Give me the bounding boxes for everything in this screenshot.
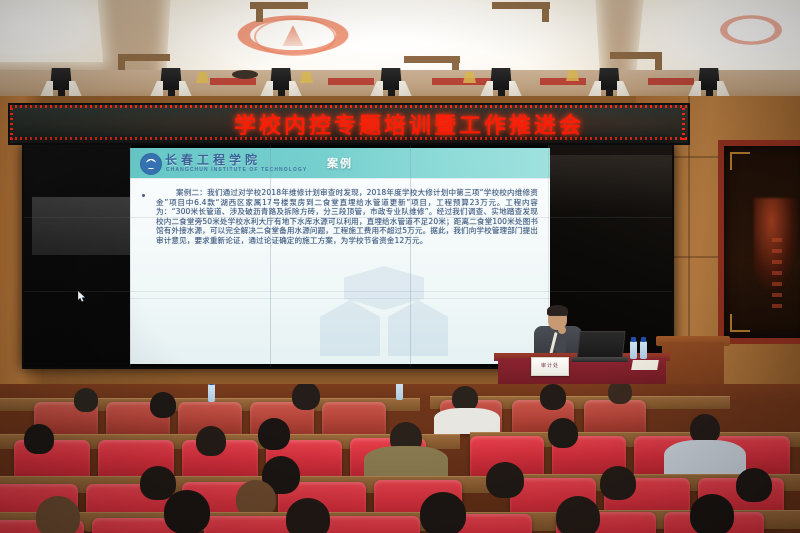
decorative-panel-icon — [718, 140, 800, 344]
decor-corner-ornament-icon — [730, 152, 750, 170]
seat — [322, 402, 386, 436]
attendee-head — [600, 466, 636, 500]
attendee-head — [736, 468, 772, 502]
attendee-shoulders — [664, 440, 746, 478]
soffit-accent — [648, 78, 694, 85]
cube-watermark-icon — [310, 266, 460, 360]
attendee-head — [150, 392, 176, 418]
attendee-shoulders — [434, 408, 500, 434]
presentation-slide: 长春工程学院 CHANGCHUN INSTITUTE OF TECHNOLOGY… — [130, 148, 550, 364]
ceiling-trim — [655, 52, 662, 71]
attendee-head — [24, 424, 54, 454]
attendee-head — [292, 384, 320, 410]
soffit-accent — [210, 78, 256, 85]
attendee-head — [548, 418, 578, 448]
attendee-head — [258, 418, 290, 450]
video-wall-panel-dark-left — [24, 145, 130, 367]
soffit-accent — [540, 78, 586, 85]
audience-area — [0, 384, 800, 533]
led-banner: 学校内控专题培训暨工作推进会 — [8, 103, 690, 145]
mouse-pointer-icon — [78, 291, 86, 302]
attendee-head — [164, 490, 210, 533]
ceiling-trim — [542, 2, 549, 22]
water-bottle-icon — [208, 384, 215, 402]
video-wall-panel-grey — [32, 197, 130, 255]
paper-sheet — [631, 360, 659, 370]
ceiling-dome-speaker-icon — [232, 70, 258, 79]
conference-hall-photo: 学校内控专题培训暨工作推进会 长春工程学院 CHANGCHUN INSTITUT… — [0, 0, 800, 533]
attendee-head — [556, 496, 600, 533]
soffit-accent — [432, 78, 492, 85]
ceiling-trim — [118, 54, 170, 61]
slide-title: 案例 — [130, 155, 550, 171]
ceiling-emblem-mark-icon — [282, 25, 303, 46]
attendee-head — [420, 492, 466, 533]
bullet-icon — [142, 194, 145, 197]
water-bottle-icon — [396, 384, 403, 400]
soffit-accent — [328, 78, 374, 85]
led-banner-text: 学校内控专题培训暨工作推进会 — [10, 108, 688, 140]
nameplate-text: 审计处 — [532, 362, 568, 369]
attendee-head — [36, 496, 80, 533]
attendee-head — [196, 426, 226, 456]
seat — [316, 516, 420, 533]
ceiling-trim — [256, 2, 263, 22]
attendee-head — [486, 462, 524, 498]
decor-corner-ornament-icon — [730, 314, 750, 332]
laptop-base — [572, 357, 629, 362]
attendee-head — [608, 384, 632, 404]
nameplate: 审计处 — [531, 357, 569, 376]
attendee-head — [690, 494, 734, 533]
attendee-head — [286, 498, 330, 533]
presenter-hand — [558, 326, 566, 334]
attendee-head — [540, 384, 566, 410]
ceiling-emblem-secondary-icon — [705, 8, 797, 52]
water-bottle-icon — [640, 341, 647, 359]
attendee-shoulders — [364, 446, 448, 480]
water-bottle-icon — [630, 341, 637, 359]
seat — [584, 400, 646, 434]
ceiling-light-panel-left — [0, 0, 103, 62]
ceiling-emblem-icon — [205, 4, 381, 66]
eyeglasses-icon — [550, 315, 565, 320]
attendee-head — [74, 388, 98, 412]
